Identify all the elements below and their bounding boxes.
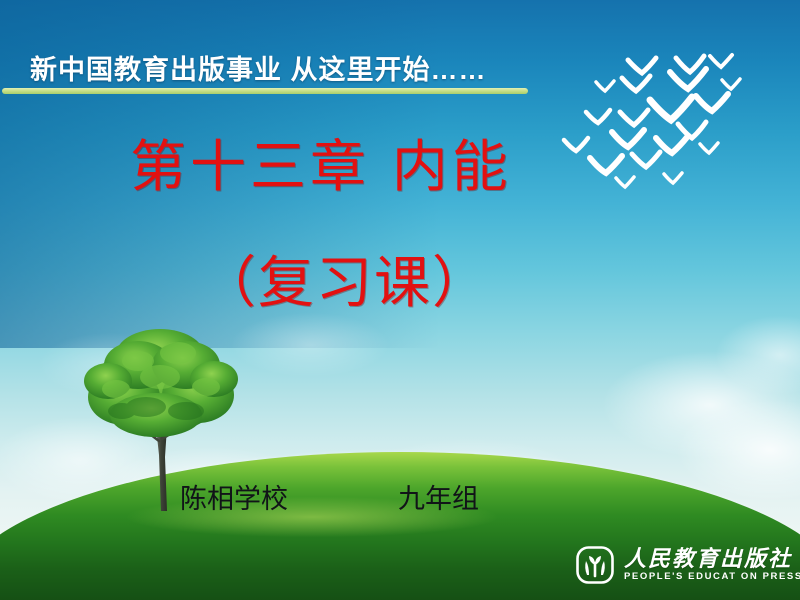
sprout-in-hands-logo-icon [575, 545, 615, 585]
header-divider-rule [2, 88, 528, 94]
presentation-slide: 新中国教育出版事业 从这里开始…… 第十三章 内能 （复习课） 陈相学校 九年组… [0, 0, 800, 600]
page-subtitle: （复习课） [200, 238, 490, 319]
credit-school-name: 陈相学校 [180, 477, 288, 516]
publisher-name-cn: 人民教育出版社 [624, 548, 800, 570]
publisher-name-en: PEOPLE'S EDUCAT ON PRESS [624, 572, 800, 582]
header-banner-text: 新中国教育出版事业 从这里开始…… [30, 48, 487, 87]
publisher-logo: 人民教育出版社 PEOPLE'S EDUCAT ON PRESS [575, 545, 800, 585]
publisher-text-block: 人民教育出版社 PEOPLE'S EDUCAT ON PRESS [624, 548, 800, 582]
flying-birds-flock-icon [560, 20, 800, 220]
credit-grade-group: 九年组 [398, 477, 479, 516]
page-title: 第十三章 内能 [130, 122, 512, 203]
